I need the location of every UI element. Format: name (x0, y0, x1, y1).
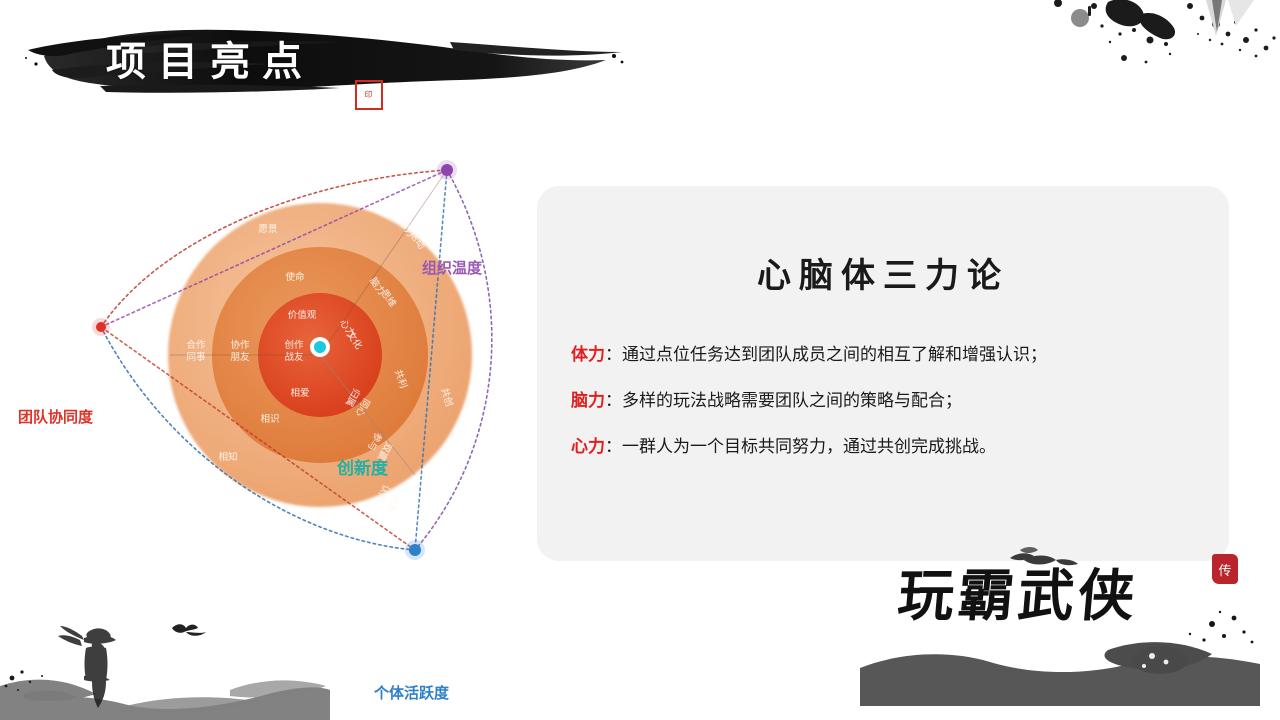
ink-landscape-bottomleft (0, 590, 330, 720)
ring-label-out-1b: 同事 (186, 351, 206, 363)
panel-row-key: 心力 (571, 436, 605, 458)
panel-title: 心脑体三力论 (537, 248, 1229, 297)
ink-splatter-topright (1050, 0, 1280, 110)
ring-label-inner-0: 价值观 (288, 309, 317, 321)
brand-seal-stamp: 传 (1212, 554, 1238, 584)
panel-row: 脑力 ： 多样的玩法战略需要团队之间的策略与配合； (571, 390, 1205, 412)
title-seal-stamp: 印 (355, 80, 383, 110)
brand-seal-text: 传 (1218, 560, 1231, 579)
panel-row-separator: ： (605, 344, 622, 366)
page-title: 项目亮点 (106, 42, 314, 82)
concentric-radar-diagram: 价值观 创作 战友 相爱 心力 文化 使命 协作 朋友 相识 脑力 思维 归属 … (0, 120, 530, 590)
title-brush-stroke (10, 12, 630, 112)
content-panel: 心脑体三力论 体力 ： 通过点位任务达到团队成员之间的相互了解和增强认识； 脑力… (537, 186, 1229, 561)
brand-title: 玩霸武侠 (896, 568, 1141, 624)
panel-row-text: 多样的玩法战略需要团队之间的策略与配合； (622, 390, 962, 412)
panel-row-separator: ： (605, 390, 622, 412)
ring-label-out-0: 愿景 (258, 224, 277, 235)
ring-label-out-1a: 合作 (186, 339, 206, 351)
vertex-dot-team (92, 318, 110, 336)
vertex-dot-org (437, 160, 457, 180)
ring-label-mid-2: 相识 (260, 413, 279, 425)
vertex-dot-innovation (310, 337, 330, 357)
panel-row: 心力 ： 一群人为一个目标共同努力，通过共创完成挑战。 (571, 436, 1205, 458)
panel-bullet-list: 体力 ： 通过点位任务达到团队成员之间的相互了解和增强认识； 脑力 ： 多样的玩… (571, 344, 1205, 482)
slide-root: 项目亮点 印 (0, 0, 1280, 720)
panel-row-separator: ： (605, 436, 622, 458)
ring-label-inner-1b: 战友 (284, 351, 304, 363)
panel-row-key: 脑力 (571, 390, 605, 412)
ring-label-inner-2: 相爱 (290, 387, 309, 399)
ring-label-mid-1a: 协作 (230, 339, 250, 351)
vertex-label-innovation: 创新度 (337, 454, 388, 479)
ring-label-mid-0: 使命 (285, 271, 305, 283)
vertex-label-individual: 个体活跃度 (374, 682, 449, 703)
title-seal-text: 印 (365, 91, 373, 99)
vertex-dot-individual (405, 540, 425, 560)
panel-row-text: 通过点位任务达到团队成员之间的相互了解和增强认识； (622, 344, 1047, 366)
ring-label-mid-1b: 朋友 (230, 351, 250, 363)
ring-label-inner-1a: 创作 (284, 339, 304, 351)
panel-row-key: 体力 (571, 344, 605, 366)
bird-icon (172, 624, 206, 636)
ring-label-out-2: 相知 (218, 451, 237, 463)
panel-row: 体力 ： 通过点位任务达到团队成员之间的相互了解和增强认识； (571, 344, 1205, 366)
panel-row-text: 一群人为一个目标共同努力，通过共创完成挑战。 (622, 436, 996, 458)
vertex-label-org: 组织温度 (422, 257, 482, 278)
brand-logo-block: 玩霸武侠 传 (860, 546, 1260, 706)
slide-title-block: 项目亮点 印 (10, 12, 630, 112)
vertex-label-team: 团队协同度 (18, 406, 93, 427)
